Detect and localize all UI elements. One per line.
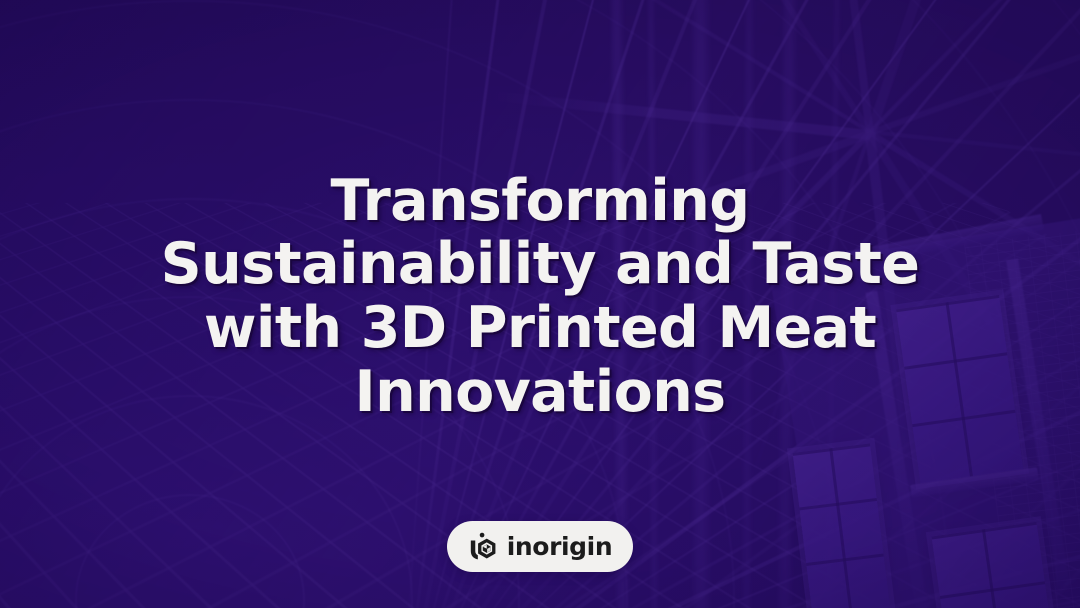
headline-line-1: Transforming bbox=[100, 170, 980, 234]
hero-banner: Transforming Sustainability and Taste wi… bbox=[0, 0, 1080, 608]
page-title: Transforming Sustainability and Taste wi… bbox=[100, 170, 980, 424]
brand-wordmark: inorigin bbox=[507, 534, 613, 560]
headline-line-4: Innovations bbox=[100, 361, 980, 425]
headline-line-3: with 3D Printed Meat bbox=[100, 297, 980, 361]
banner-content: Transforming Sustainability and Taste wi… bbox=[0, 0, 1080, 608]
headline-line-2: Sustainability and Taste bbox=[100, 233, 980, 297]
brand-logo-badge[interactable]: inorigin bbox=[447, 521, 633, 572]
hexagon-cube-icon bbox=[468, 532, 498, 562]
